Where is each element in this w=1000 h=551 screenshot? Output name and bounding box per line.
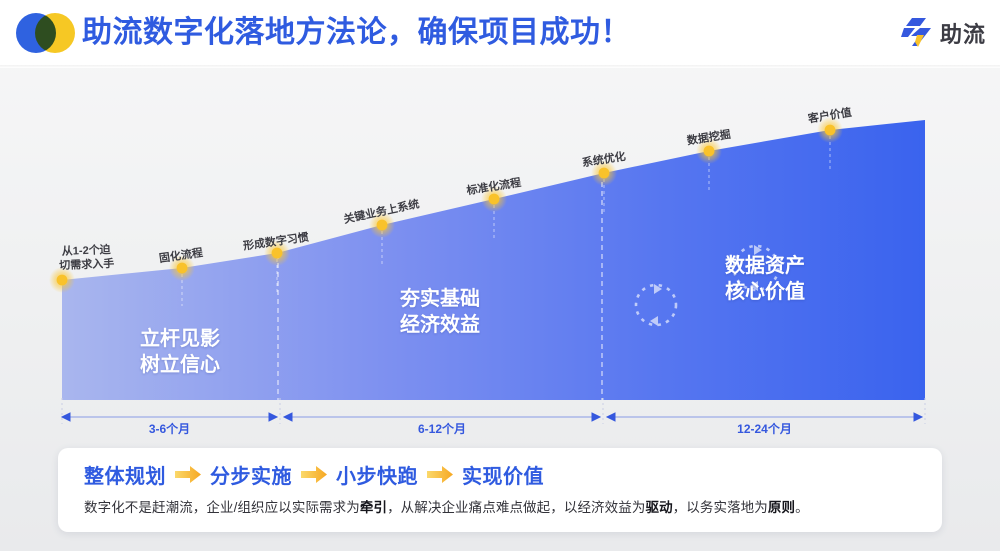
right-arrow-icon bbox=[301, 466, 327, 483]
stage-caption-3: 数据资产 核心价值 bbox=[685, 253, 845, 305]
stage-caption-2: 夯实基础 经济效益 bbox=[360, 286, 520, 338]
desc-part-bold: 驱动 bbox=[645, 500, 672, 515]
methodology-chart: 从1-2个迫 切需求入手 固化流程 形成数字习惯 关键业务上系统 标准化流程 系… bbox=[0, 68, 1000, 408]
slide-canvas: 助流数字化落地方法论，确保项目成功！ 助流 bbox=[0, 0, 1000, 551]
overlapping-circles-logo bbox=[16, 13, 76, 53]
timeline-label-3: 12-24个月 bbox=[607, 420, 922, 437]
corp-logo: 助流 bbox=[900, 14, 986, 52]
desc-part: 数字化不是赶潮流，企业/组织应以实际需求为 bbox=[84, 500, 360, 515]
desc-part-bold: 牵引 bbox=[360, 500, 387, 515]
timeline-label-1: 3-6个月 bbox=[62, 420, 277, 437]
timeline-label-2: 6-12个月 bbox=[284, 420, 600, 437]
desc-part: 。 bbox=[795, 500, 809, 515]
summary-card: 整体规划 分步实施 小步快跑 实现价值 bbox=[58, 448, 942, 532]
timeline-axis: 3-6个月 6-12个月 12-24个月 bbox=[0, 398, 1000, 446]
step-label-1: 整体规划 bbox=[84, 460, 166, 489]
step-label-2: 分步实施 bbox=[210, 460, 292, 489]
corp-name: 助流 bbox=[940, 17, 986, 49]
desc-part-bold: 原则 bbox=[768, 500, 795, 515]
step-label-3: 小步快跑 bbox=[336, 460, 418, 489]
steps-row: 整体规划 分步实施 小步快跑 实现价值 bbox=[84, 459, 544, 489]
summary-description: 数字化不是赶潮流，企业/组织应以实际需求为牵引，从解决企业痛点难点做起，以经济效… bbox=[84, 498, 924, 518]
desc-part: ，以务实落地为 bbox=[673, 500, 768, 515]
logo-circle-yellow bbox=[35, 13, 75, 53]
stage-caption-1: 立杆见影 树立信心 bbox=[100, 326, 260, 378]
lightning-bolt-logo-icon bbox=[900, 16, 934, 50]
desc-part: ，从解决企业痛点难点做起，以经济效益为 bbox=[387, 500, 645, 515]
step-label-4: 实现价值 bbox=[462, 460, 544, 489]
page-title: 助流数字化落地方法论，确保项目成功！ bbox=[82, 10, 631, 56]
slide-header: 助流数字化落地方法论，确保项目成功！ 助流 bbox=[0, 0, 1000, 68]
right-arrow-icon bbox=[427, 466, 453, 483]
right-arrow-icon bbox=[175, 466, 201, 483]
node-label-0: 从1-2个迫 切需求入手 bbox=[47, 243, 126, 274]
